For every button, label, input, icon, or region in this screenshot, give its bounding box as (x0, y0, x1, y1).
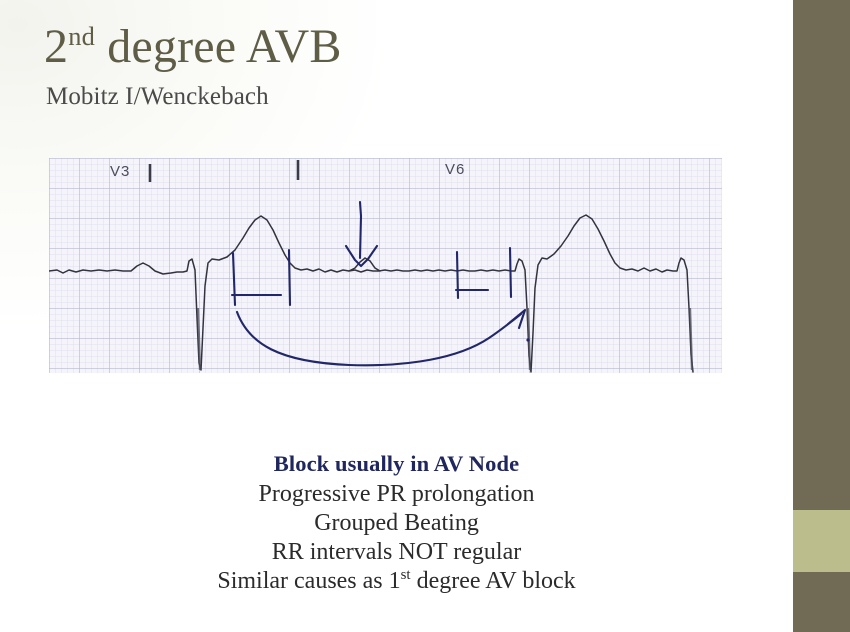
ecg-svg: V3 V6 (49, 158, 722, 373)
bar-segment-accent (793, 510, 850, 572)
page-subtitle: Mobitz I/Wenckebach (46, 83, 744, 111)
caption-line-4: Similar causes as 1st degree AV block (0, 567, 793, 596)
title-block: 2nd degree AVB Mobitz I/Wenckebach (44, 22, 744, 111)
caption-line-4-ordinal: st (401, 567, 411, 583)
slide-canvas: 2nd degree AVB Mobitz I/Wenckebach V3 V6 (0, 0, 850, 632)
title-number: 2 (44, 20, 68, 73)
right-decoration-bar (793, 0, 850, 632)
caption-block: Block usually in AV Node Progressive PR … (0, 450, 793, 596)
lead-label-v6: V6 (445, 161, 465, 178)
lead-label-v3: V3 (110, 163, 130, 180)
bar-segment-bottom (793, 572, 850, 632)
caption-line-4-pre: Similar causes as 1 (217, 568, 400, 594)
title-ordinal-suffix: nd (68, 21, 95, 51)
caption-line-2: Grouped Beating (0, 509, 793, 538)
caption-line-3: RR intervals NOT regular (0, 538, 793, 567)
caption-line-4-post: degree AV block (411, 568, 576, 594)
ecg-rhythm-strip: V3 V6 (49, 158, 722, 373)
pr-bracket-short-right-tick (510, 248, 511, 297)
bar-segment-top (793, 0, 850, 510)
pr-bracket-long-right-tick (289, 250, 290, 305)
ecg-grid (49, 158, 722, 373)
caption-heading: Block usually in AV Node (0, 450, 793, 477)
pr-bracket-short-left-tick (457, 252, 458, 298)
title-main-text: degree AVB (107, 20, 341, 73)
dropped-beat-arrow-shaft (360, 202, 361, 258)
rr-sweep-ink-dot (526, 338, 529, 341)
page-title: 2nd degree AVB (44, 22, 744, 72)
caption-line-1: Progressive PR prolongation (0, 480, 793, 509)
